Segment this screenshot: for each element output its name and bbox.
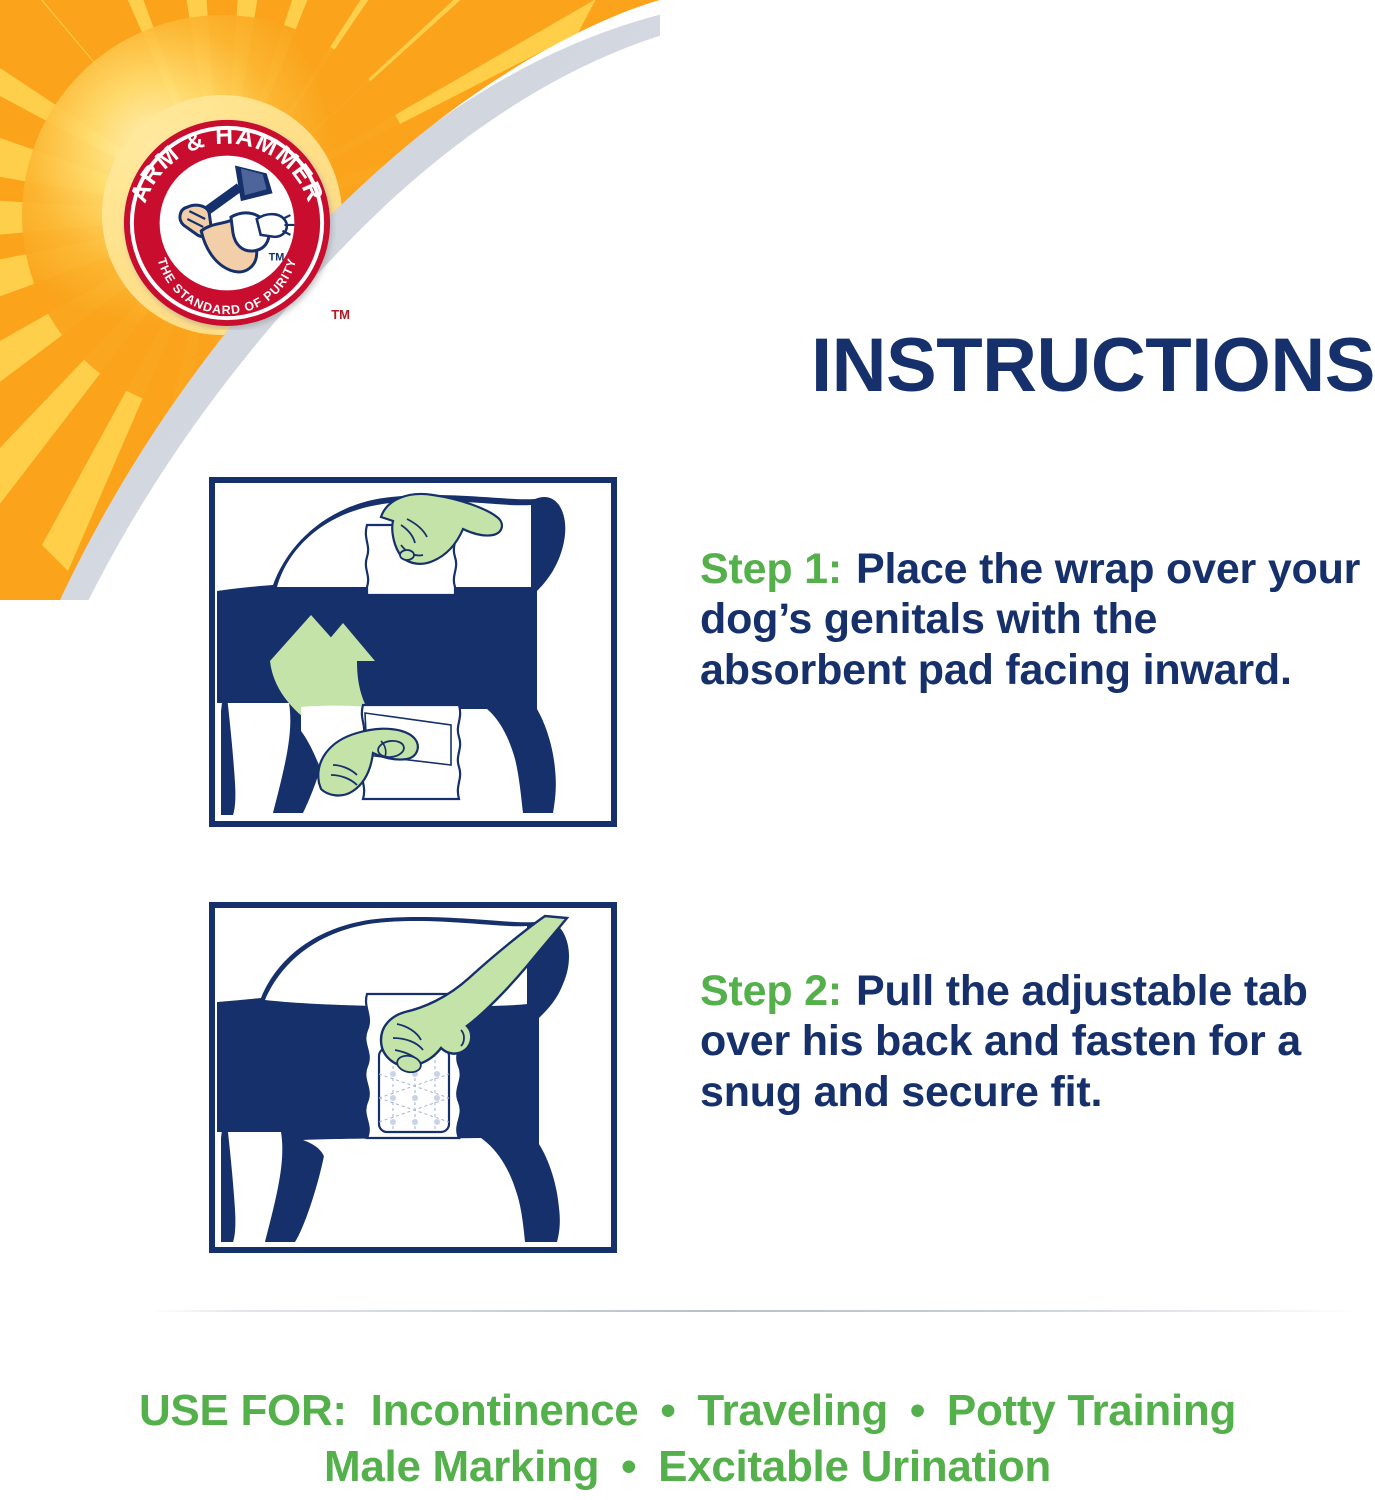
logo-tm-inner: TM <box>269 252 285 264</box>
use-for-section: USE FOR: Incontinence • Traveling • Pott… <box>0 1383 1375 1496</box>
arm-and-hammer-logo-svg: ARM & HAMMER THE STANDARD OF PURITY TM <box>118 112 336 330</box>
bullet-separator-2: • <box>900 1383 935 1439</box>
use-case-excitable-urination: Excitable Urination <box>658 1442 1051 1491</box>
use-for-line-2: Male Marking • Excitable Urination <box>0 1439 1375 1495</box>
use-case-male-marking: Male Marking <box>324 1442 599 1491</box>
bullet-separator-3: • <box>611 1439 646 1495</box>
step-1-illustration <box>209 477 617 827</box>
section-divider <box>148 1310 1358 1312</box>
step-2-label: Step 2: <box>700 967 842 1015</box>
use-case-potty-training: Potty Training <box>947 1386 1236 1435</box>
use-for-label: USE FOR: <box>139 1386 347 1435</box>
use-case-traveling: Traveling <box>697 1386 888 1435</box>
use-for-line-1: USE FOR: Incontinence • Traveling • Pott… <box>0 1383 1375 1439</box>
dog-wrap-placement-illustration <box>215 483 611 821</box>
step-1-label: Step 1: <box>700 545 842 593</box>
page-title: INSTRUCTIONS <box>690 328 1375 404</box>
use-case-incontinence: Incontinence <box>371 1386 639 1435</box>
step-1-text: Step 1:Place the wrap over your dog’s ge… <box>700 544 1372 695</box>
step-2-text: Step 2:Pull the adjustable tab over his … <box>700 966 1372 1117</box>
logo-tm-outer: TM <box>331 307 350 322</box>
dog-tab-fasten-illustration <box>215 908 611 1247</box>
step-2-illustration <box>209 902 617 1253</box>
arm-and-hammer-logo: ARM & HAMMER THE STANDARD OF PURITY TM T… <box>118 112 336 330</box>
bullet-separator-1: • <box>650 1383 685 1439</box>
